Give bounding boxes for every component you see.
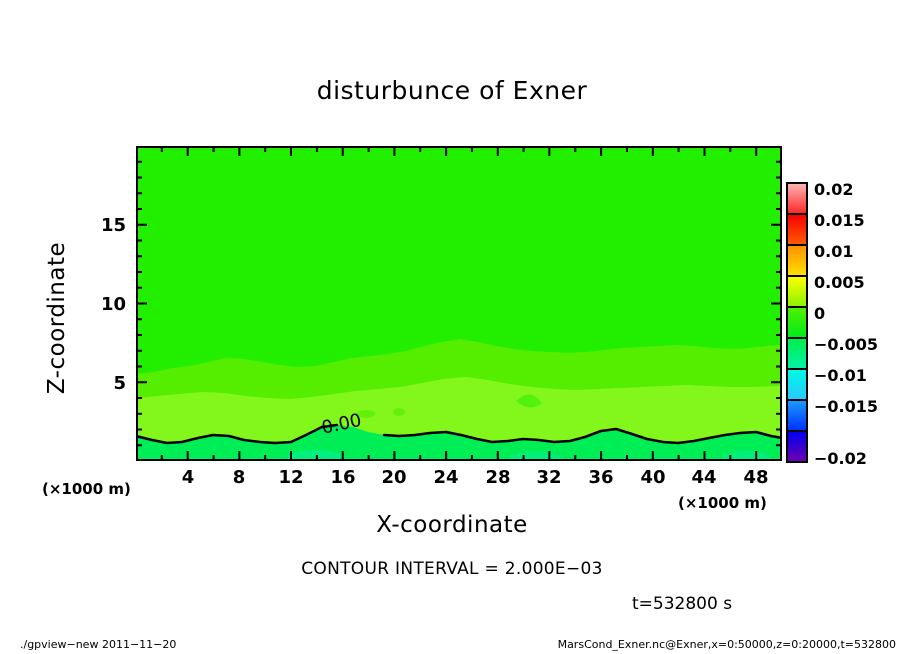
z-axis-unit-label: (×1000 m) <box>42 480 131 498</box>
x-tick-label: 16 <box>323 467 363 488</box>
footer-command: ./gpview−new 2011−11−20 <box>20 638 176 651</box>
x-axis-unit-label: (×1000 m) <box>678 494 767 512</box>
x-tick-label: 20 <box>374 467 414 488</box>
colorbar <box>786 182 808 463</box>
y-tick-label: 10 <box>88 294 126 315</box>
contour-interval-note: CONTOUR INTERVAL = 2.000E−03 <box>0 559 904 579</box>
x-tick-label: 36 <box>581 467 621 488</box>
page-title: disturbunce of Exner <box>0 76 904 105</box>
colorbar-tick-label: −0.015 <box>814 397 878 416</box>
colorbar-band <box>788 277 806 308</box>
colorbar-band <box>788 308 806 339</box>
time-annotation: t=532800 s <box>632 594 732 614</box>
colorbar-band <box>788 215 806 246</box>
colorbar-band <box>788 339 806 370</box>
colorbar-band <box>788 370 806 401</box>
colorbar-tick-label: −0.01 <box>814 366 867 385</box>
colorbar-band <box>788 246 806 277</box>
x-tick-label: 40 <box>633 467 673 488</box>
colorbar-tick-label: −0.005 <box>814 335 878 354</box>
x-tick-label: 8 <box>219 467 259 488</box>
colorbar-tick-label: 0 <box>814 304 825 323</box>
colorbar-tick-label: −0.02 <box>814 449 867 468</box>
x-tick-label: 28 <box>478 467 518 488</box>
colorbar-band <box>788 401 806 432</box>
colorbar-tick-label: 0.005 <box>814 273 865 292</box>
x-tick-label: 32 <box>529 467 569 488</box>
x-tick-label: 48 <box>736 467 776 488</box>
colorbar-band <box>788 184 806 215</box>
colorbar-band <box>788 432 806 461</box>
x-tick-label: 24 <box>426 467 466 488</box>
x-tick-label: 44 <box>684 467 724 488</box>
y-tick-label: 15 <box>88 215 126 236</box>
colorbar-tick-label: 0.01 <box>814 242 853 261</box>
x-axis-title: X-coordinate <box>0 512 904 538</box>
colorbar-tick-label: 0.02 <box>814 180 853 199</box>
x-tick-label: 4 <box>168 467 208 488</box>
colorbar-tick-label: 0.015 <box>814 211 865 230</box>
y-tick-label: 5 <box>88 373 126 394</box>
contour-plot-area <box>136 146 782 461</box>
x-tick-label: 12 <box>271 467 311 488</box>
figure-root: disturbunce of Exner <box>0 0 904 654</box>
y-axis-title: Z-coordinate <box>44 218 72 418</box>
footer-dataset: MarsCond_Exner.nc@Exner,x=0:50000,z=0:20… <box>558 638 896 651</box>
